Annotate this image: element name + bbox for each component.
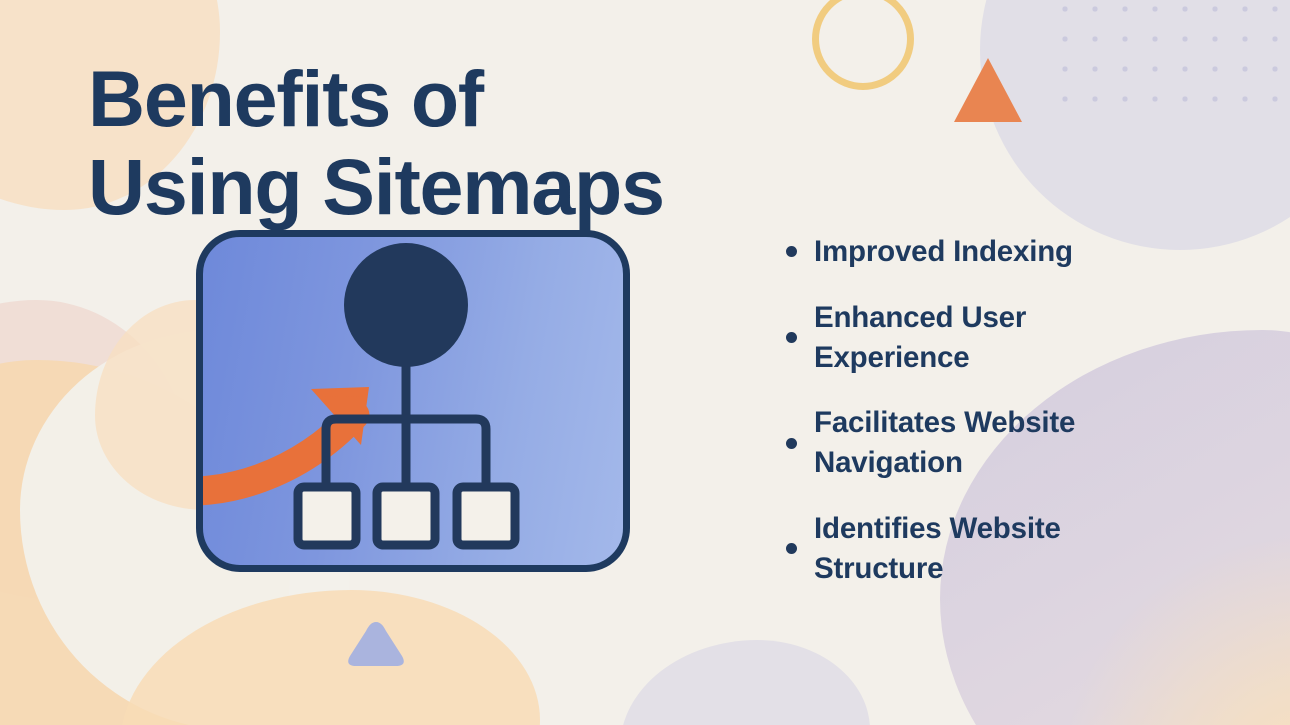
orange-triangle-icon [954,58,1022,122]
slide-canvas: Benefits of Using Sitemaps [0,0,1290,725]
sitemap-tree-graphic [203,237,623,565]
list-item-label: Identifies Website Structure [814,509,1061,589]
bullet-dot-icon [786,332,797,343]
child-node-square-2 [377,487,435,545]
benefits-list: Improved Indexing Enhanced User Experien… [782,232,1182,615]
list-item: Improved Indexing [782,232,1182,272]
list-item: Enhanced User Experience [782,298,1182,378]
peach-blob-bottom [120,590,540,725]
child-node-square-1 [298,487,356,545]
sitemap-diagram-card [196,230,630,572]
list-item: Identifies Website Structure [782,509,1182,589]
page-title: Benefits of Using Sitemaps [88,55,868,232]
list-item-label: Facilitates Website Navigation [814,403,1075,483]
bullet-dot-icon [786,438,797,449]
lavender-blob-top-right [980,0,1290,250]
list-item-label: Improved Indexing [814,232,1073,272]
list-item: Facilitates Website Navigation [782,403,1182,483]
bullet-dot-icon [786,246,797,257]
dot-grid-pattern-icon [1050,0,1290,114]
bullet-dot-icon [786,543,797,554]
lavender-triangle-icon [344,620,408,668]
root-node-circle [344,243,468,367]
rose-blob-left [0,300,190,600]
child-node-square-3 [457,487,515,545]
curved-up-arrow-icon [203,387,369,491]
list-item-label: Enhanced User Experience [814,298,1026,378]
lavender-blob-bottom-center [620,640,870,725]
